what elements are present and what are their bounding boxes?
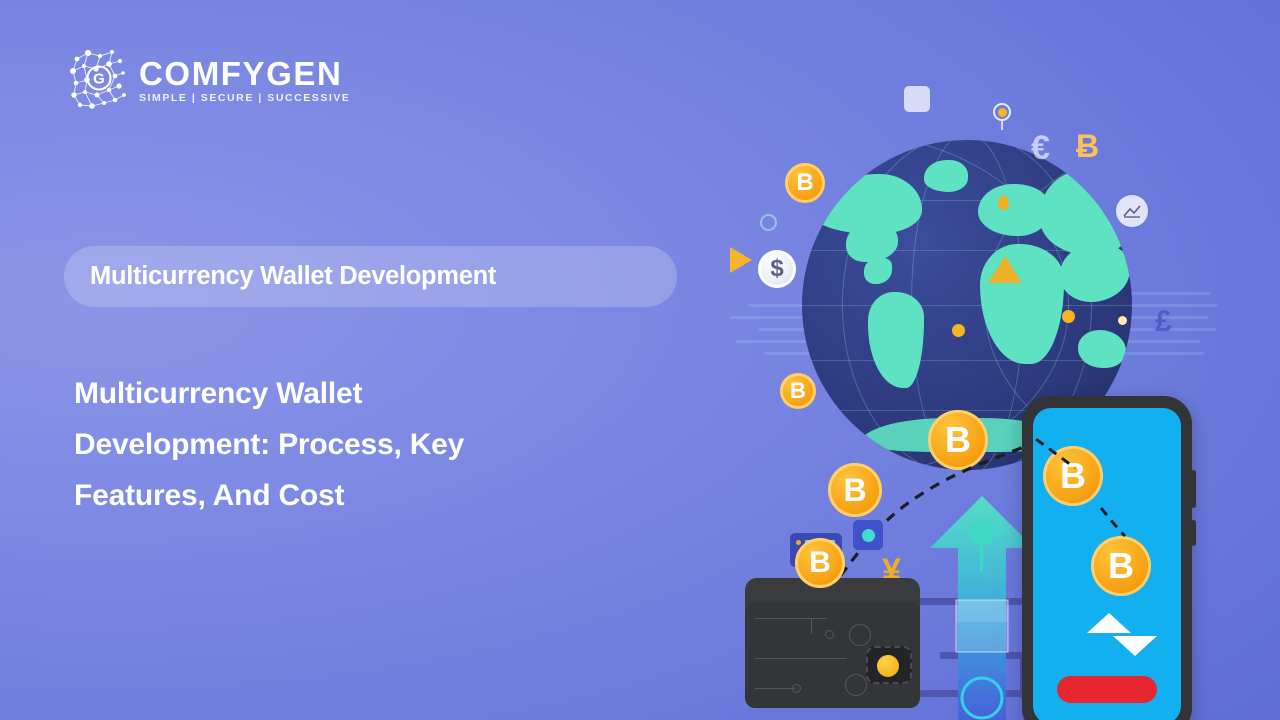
svg-text:G: G <box>93 70 105 87</box>
category-badge[interactable]: Multicurrency Wallet Development <box>64 246 677 307</box>
coin-symbol: B <box>809 546 831 580</box>
map-pin-marker-icon <box>993 103 1011 129</box>
globe-node-dot <box>1118 316 1127 325</box>
phone-side-button <box>1191 470 1196 508</box>
wallet-circuit-trace <box>755 658 847 659</box>
wallet-circuit-node <box>792 684 801 693</box>
white-square-decoration <box>904 86 930 112</box>
crypto-wallet-graphic: B <box>745 578 920 708</box>
wallet-circuit-node <box>845 674 867 696</box>
node-card <box>853 520 883 550</box>
category-badge-label: Multicurrency Wallet Development <box>90 262 496 291</box>
multicurrency-wallet-illustration: € Ƀ £ ¥ ₹ B $ <box>690 0 1280 720</box>
globe-node-dot <box>952 324 965 337</box>
map-pin-icon <box>998 196 1009 210</box>
brand-tagline: SIMPLE | SECURE | SUCCESSIVE <box>139 93 350 104</box>
globe-node-dot <box>1062 310 1075 323</box>
dollar-coin: $ <box>758 250 796 288</box>
bitcoin-symbol: Ƀ <box>1076 128 1099 165</box>
brand-logo[interactable]: G COMFYGEN SIMPLE | SECURE | SUCCESSIVE <box>68 45 350 111</box>
arrow-down-triangle-icon <box>1113 636 1157 656</box>
wallet-circuit-trace <box>755 618 813 619</box>
euro-symbol: € <box>1031 129 1050 168</box>
bitcoin-coin-wallet: B <box>795 538 845 588</box>
chart-badge-icon <box>1116 195 1148 227</box>
primary-action-button[interactable] <box>1057 676 1157 703</box>
wallet-circuit-trace <box>755 688 795 689</box>
brand-name: COMFYGEN <box>139 57 350 90</box>
growth-arrow-icon <box>930 496 1034 720</box>
wallet-circuit-node <box>849 624 871 646</box>
hero-banner: G COMFYGEN SIMPLE | SECURE | SUCCESSIVE … <box>0 0 1280 720</box>
coin-symbol: B <box>796 169 813 197</box>
mobile-wallet-phone: B B <box>1022 396 1192 720</box>
circle-outline-decoration <box>760 214 777 231</box>
wallet-clasp <box>866 646 912 684</box>
phone-transfer-path <box>1033 408 1181 608</box>
wallet-circuit-node <box>825 630 834 639</box>
network-nodes-g-icon: G <box>68 45 130 111</box>
coin-symbol: $ <box>770 255 783 283</box>
bitcoin-coin-top: B <box>785 163 825 203</box>
phone-side-button <box>1191 520 1196 546</box>
warning-triangle-icon <box>988 256 1022 283</box>
pound-symbol: £ <box>1155 305 1172 339</box>
phone-screen: B B <box>1033 408 1181 720</box>
arrow-up-triangle-icon <box>1087 613 1131 633</box>
page-title: Multicurrency Wallet Development: Proces… <box>74 368 544 521</box>
play-triangle-icon <box>730 247 752 273</box>
